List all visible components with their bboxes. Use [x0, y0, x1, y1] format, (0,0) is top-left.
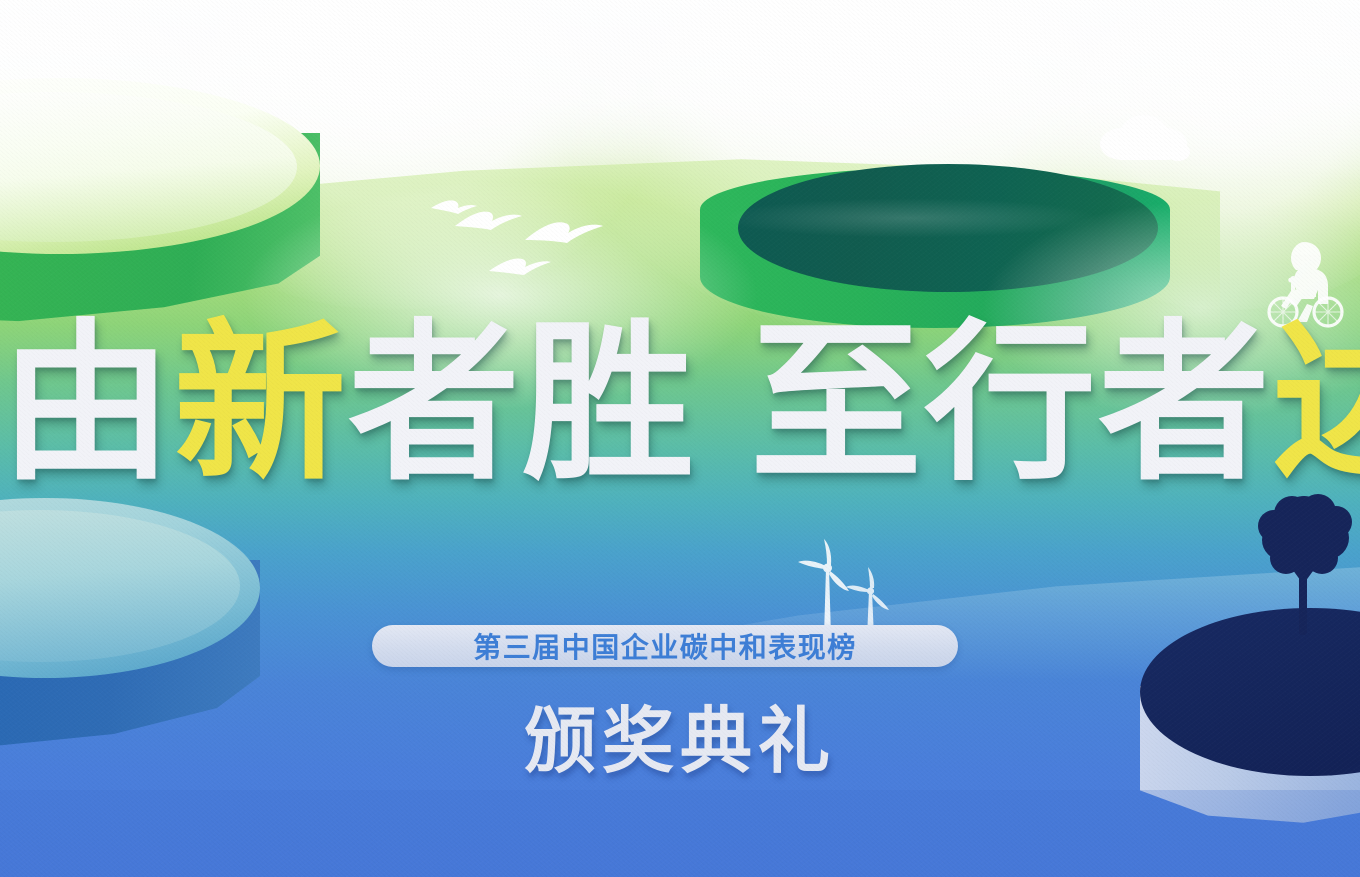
- headline-char: 者: [348, 318, 522, 490]
- headline-char: 者: [1098, 318, 1272, 490]
- headline-char-accent: 达: [1272, 318, 1360, 490]
- subtitle-pill: 第三届中国企业碳中和表现榜: [372, 625, 958, 667]
- ribbon-highlight: [720, 198, 1100, 238]
- headline-char: 行: [924, 318, 1098, 490]
- birds-icon: [425, 192, 640, 297]
- headline-char: 至: [750, 318, 924, 490]
- headline: 由新者胜至行者达: [0, 318, 1360, 490]
- headline-char-accent: 新: [174, 318, 348, 490]
- poster-stage: 由新者胜至行者达 第三届中国企业碳中和表现榜 颁奖典礼: [0, 0, 1360, 877]
- headline-char: 胜: [522, 318, 696, 490]
- headline-char: 由: [0, 318, 174, 490]
- subtitle-text: 第三届中国企业碳中和表现榜: [473, 626, 857, 666]
- ceremony-title: 颁奖典礼: [0, 682, 1360, 787]
- ground-plane: [0, 790, 1360, 877]
